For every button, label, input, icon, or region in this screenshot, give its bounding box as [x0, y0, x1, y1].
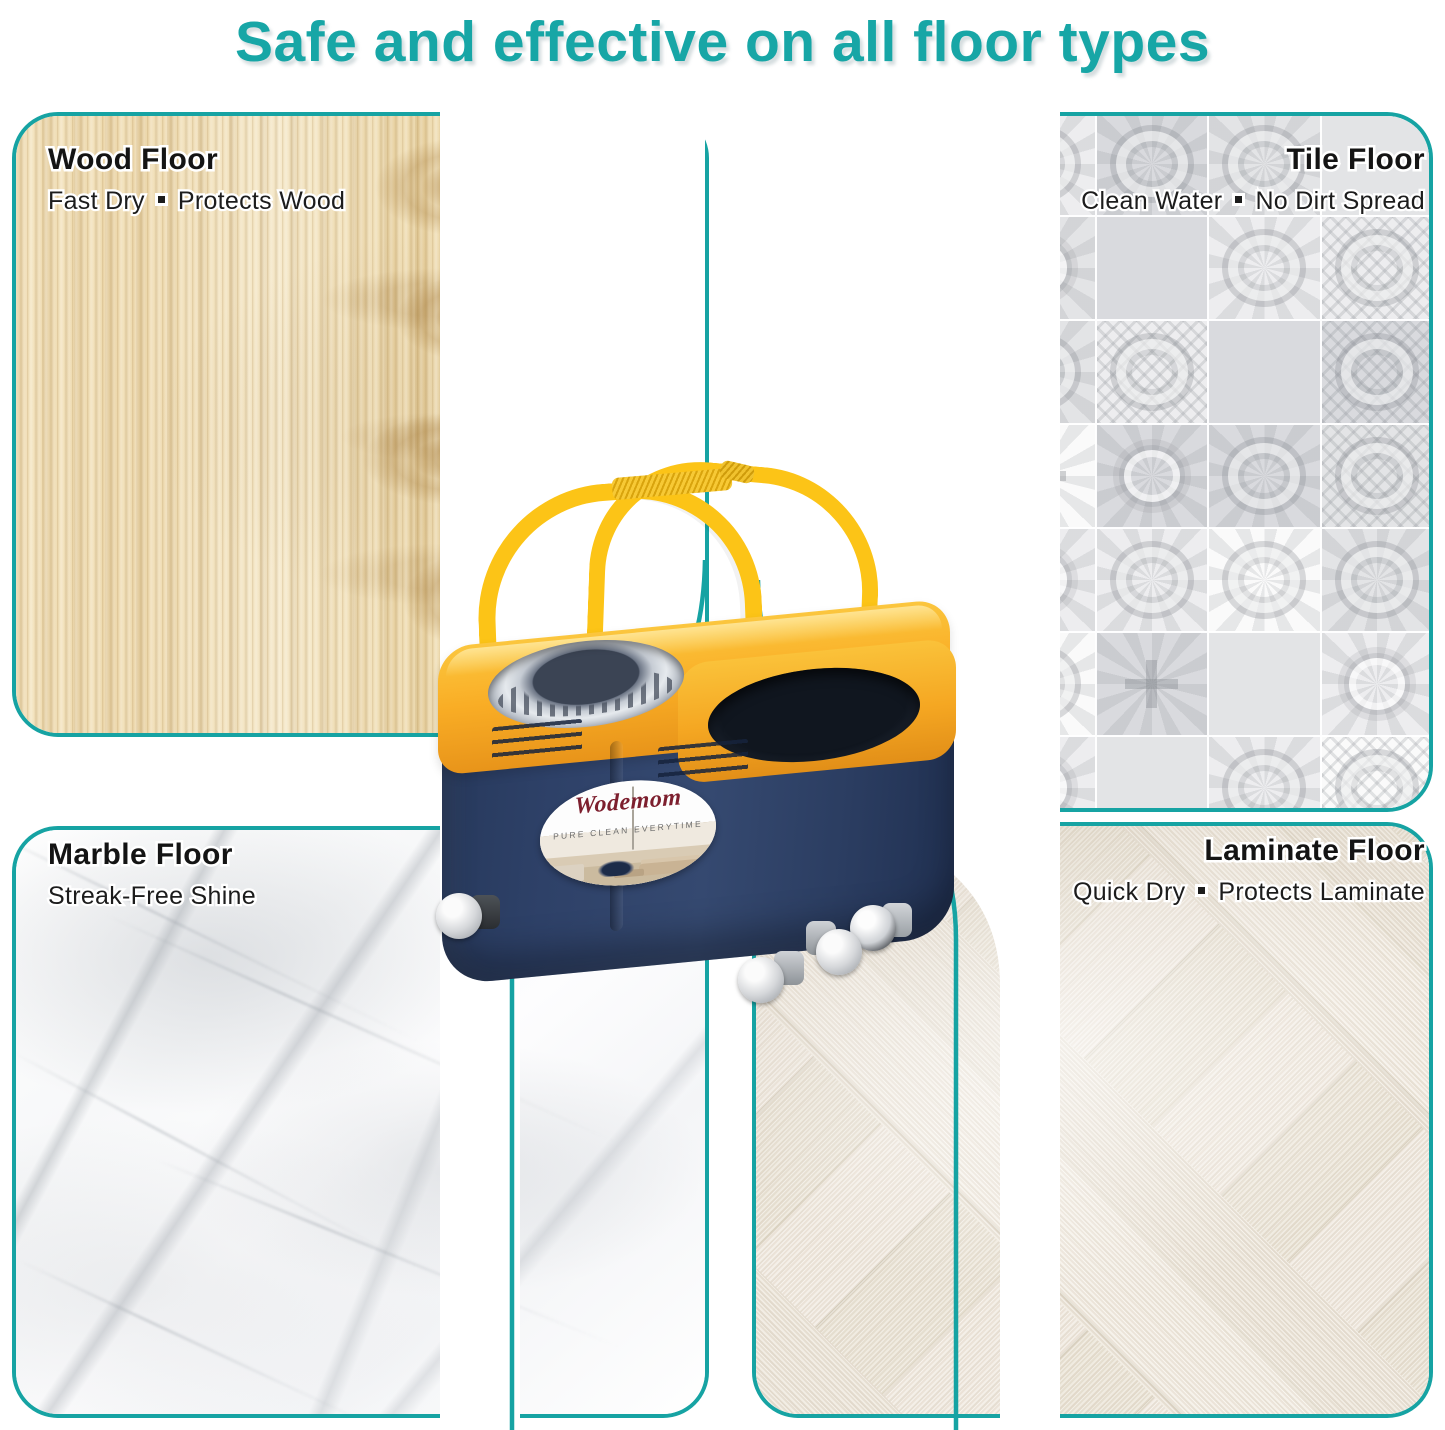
marble-vein [12, 826, 420, 1042]
tile-cell [758, 112, 871, 216]
tile-cell [1321, 424, 1434, 528]
sticker-sofa [639, 858, 702, 876]
marble-vein [12, 1050, 418, 1269]
product-image: Wodemom PURE CLEAN EVERYTIME [420, 455, 1020, 1025]
tile-cell [983, 320, 1096, 424]
tile-cell [1321, 632, 1434, 736]
wood-grain-knot [395, 275, 548, 363]
tile-cell [1208, 424, 1321, 528]
tile-cell [871, 320, 984, 424]
caster-tyre [816, 929, 862, 975]
tile-cell [983, 216, 1096, 320]
tile-cell [1208, 320, 1321, 424]
marble-vein [17, 1259, 397, 1418]
wood-grain-knot [374, 137, 555, 237]
tile-cell [1096, 112, 1209, 216]
tile-cell [1096, 736, 1209, 812]
tile-cell [1321, 320, 1434, 424]
caster-tyre [738, 957, 784, 1003]
tile-cell [1096, 424, 1209, 528]
tile-cell [1321, 736, 1434, 812]
wood-grain-knot [591, 200, 710, 338]
tile-cell [758, 216, 871, 320]
tile-cell [1096, 528, 1209, 632]
sticker-cabinet [545, 864, 584, 884]
tile-cell [1208, 112, 1321, 216]
tile-cell [871, 216, 984, 320]
tile-cell [1208, 632, 1321, 736]
tile-cell [871, 112, 984, 216]
page-title-text: Safe and effective on all floor types [235, 9, 1210, 75]
caster-tyre [436, 893, 482, 939]
tile-cell [983, 112, 1096, 216]
tile-cell [1321, 216, 1434, 320]
page-title: Safe and effective on all floor types [0, 0, 1445, 84]
tile-cell [1208, 528, 1321, 632]
tile-cell [1208, 216, 1321, 320]
tile-cell [1321, 528, 1434, 632]
marble-vein [155, 1158, 621, 1349]
tile-cell [1096, 632, 1209, 736]
tile-cell [1096, 216, 1209, 320]
tile-cell [758, 320, 871, 424]
tile-cell [1321, 112, 1434, 216]
tile-cell [1208, 736, 1321, 812]
tile-cell [1096, 320, 1209, 424]
